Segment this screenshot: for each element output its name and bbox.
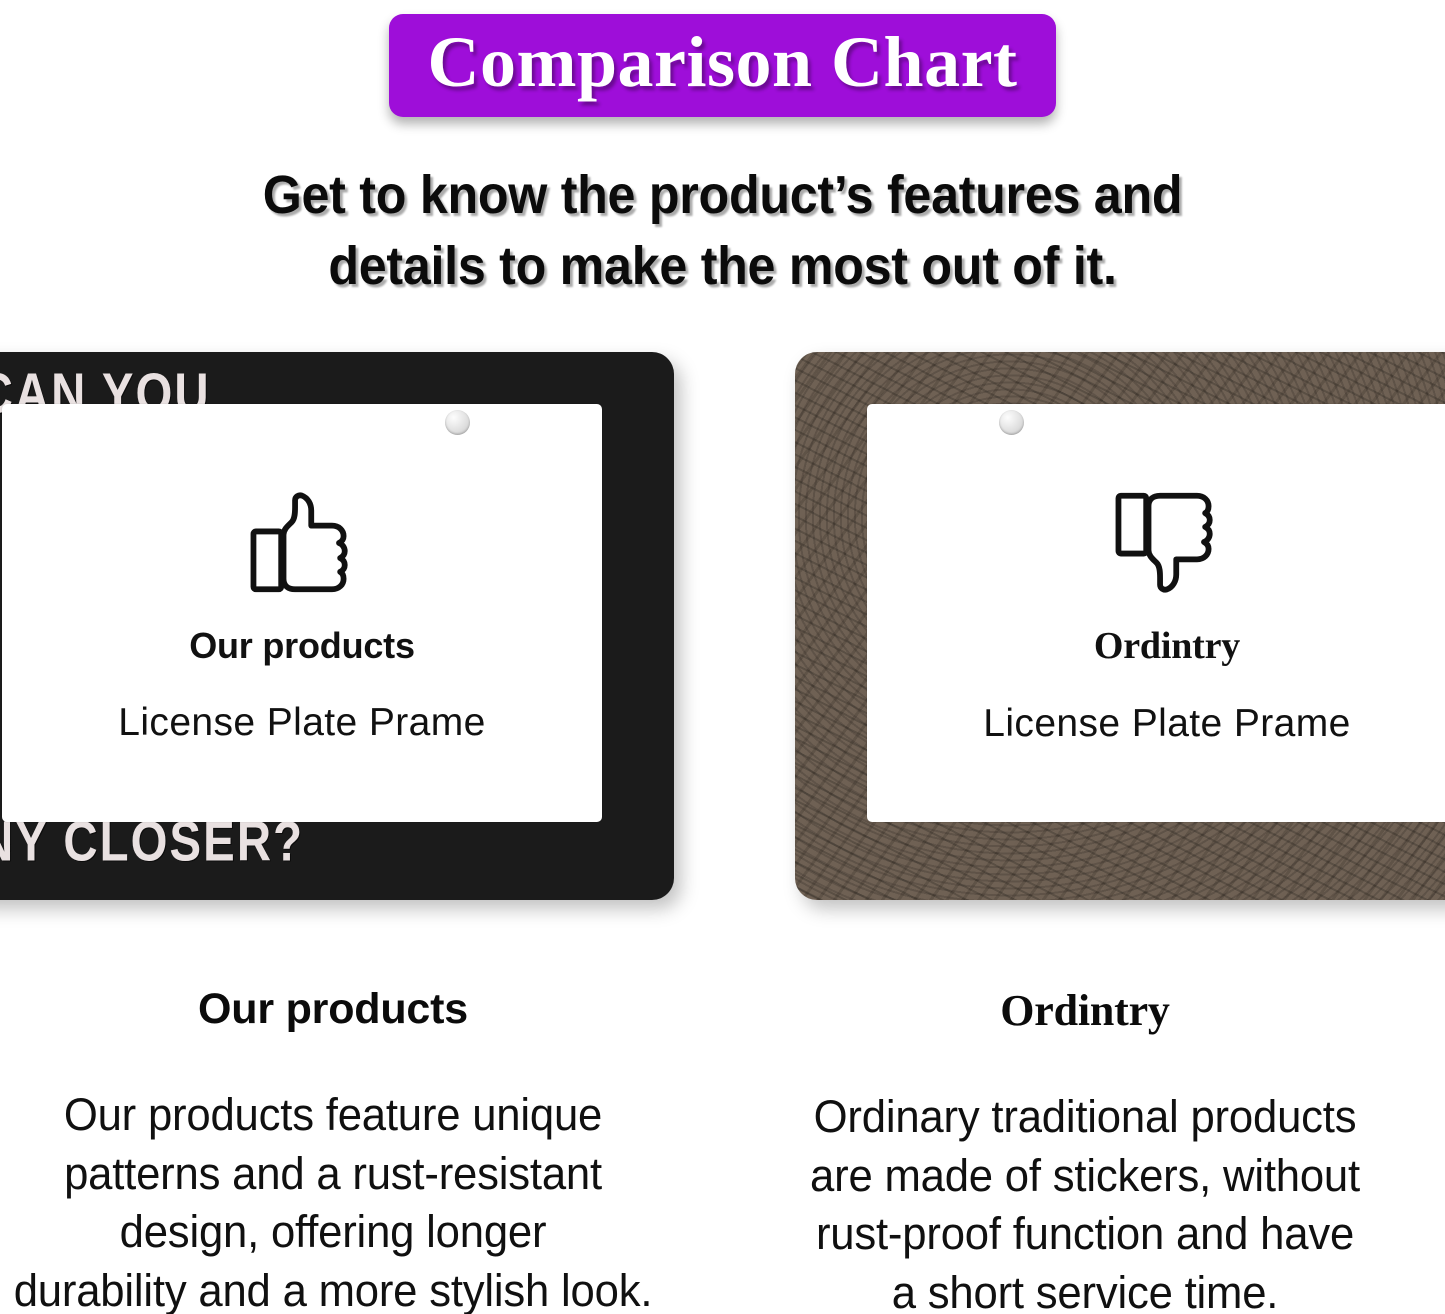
column-heading-ordinary: Ordintry <box>740 985 1430 1036</box>
plate-sublabel-ordinary: License Plate Prame <box>983 702 1350 746</box>
column-body-ordinary: Ordinary traditional products are made o… <box>750 1088 1419 1314</box>
ordinary-body-line-4: a short service time. <box>750 1264 1419 1314</box>
our-product-license-plate-frame: CAN YOU ANY CLOSER? Our products License… <box>0 352 674 900</box>
ordinary-body-line-1: Ordinary traditional products <box>750 1088 1419 1147</box>
thumbs-up-icon <box>244 491 360 595</box>
page-title: Comparison Chart <box>427 20 1017 105</box>
plate-content-ours: Our products License Plate Prame <box>2 404 602 822</box>
description-column-ours: Our products Our products feature unique… <box>0 985 678 1314</box>
plate-sublabel-ours: License Plate Prame <box>118 701 485 745</box>
subtitle-line-2: details to make the most out of it. <box>51 231 1395 302</box>
plate-window-ordinary: Ordintry License Plate Prame <box>867 404 1445 822</box>
mounting-hole-ours <box>445 410 470 435</box>
title-banner: Comparison Chart <box>389 14 1055 117</box>
ordinary-product-license-plate-frame: Ordintry License Plate Prame <box>795 352 1445 900</box>
ours-body-line-1: Our products feature unique <box>0 1086 668 1145</box>
subtitle-line-1: Get to know the product’s features and <box>51 160 1395 231</box>
page-subtitle: Get to know the product’s features and d… <box>51 160 1395 303</box>
description-columns: Our products Our products feature unique… <box>0 985 1445 1314</box>
ordinary-body-line-2: are made of stickers, without <box>750 1147 1419 1206</box>
plate-window-ours: Our products License Plate Prame <box>2 404 602 822</box>
banner-container: Comparison Chart <box>0 14 1445 117</box>
mounting-hole-ordinary <box>999 410 1024 435</box>
ordinary-body-line-3: rust-proof function and have <box>750 1205 1419 1264</box>
ours-body-line-3: design, offering longer <box>0 1203 668 1262</box>
column-body-ours: Our products feature unique patterns and… <box>0 1086 668 1314</box>
plate-content-ordinary: Ordintry License Plate Prame <box>867 404 1445 822</box>
plate-label-ordinary: Ordintry <box>1094 624 1240 668</box>
plate-label-ours: Our products <box>189 625 415 667</box>
description-column-ordinary: Ordintry Ordinary traditional products a… <box>740 985 1430 1314</box>
column-heading-ours: Our products <box>0 985 678 1034</box>
thumbs-down-icon <box>1109 490 1225 594</box>
frames-row: CAN YOU ANY CLOSER? Our products License… <box>0 352 1445 922</box>
ours-body-line-2: patterns and a rust-resistant <box>0 1145 668 1204</box>
ours-body-line-4: durability and a more stylish look. <box>0 1262 668 1314</box>
comparison-chart-page: Comparison Chart Get to know the product… <box>0 0 1445 1314</box>
